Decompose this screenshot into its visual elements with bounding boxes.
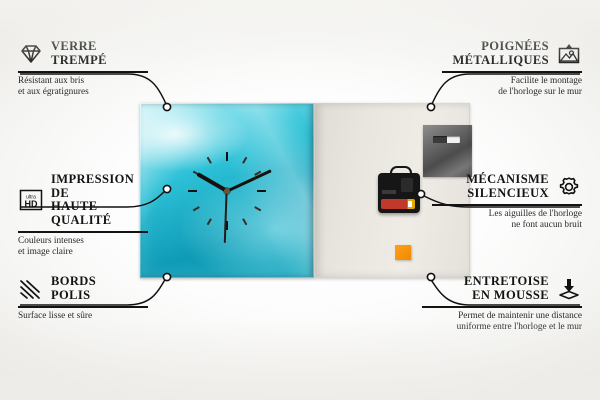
feature-divider [18,231,148,233]
feature-divider [442,71,582,73]
feature-title-line1: IMPRESSION DE [51,173,148,200]
feature-bords-polis: BORDS POLIS Surface lisse et sûre [18,275,148,322]
feature-title-line2: TREMPÉ [51,54,107,68]
feature-title-row: MÉCANISME SILENCIEUX [432,173,582,200]
feature-title-line1: VERRE [51,40,107,54]
picture-frame-icon [556,42,582,66]
feature-desc-line1: Résistant aux bris [18,76,148,87]
clock-front-panel [140,103,314,278]
feature-divider [18,71,148,73]
feature-entretoise-en-mousse: ENTRETOISE EN MOUSSE Permet de maintenir… [422,275,582,333]
product-image [140,103,470,278]
ultra-hd-icon: ultra HD [18,188,44,212]
feature-poignees-metalliques: POIGNÉES MÉTALLIQUES Facilite le montage… [442,40,582,98]
feature-title-line2: MÉTALLIQUES [452,54,549,68]
feature-title-row: VERRE TREMPÉ [18,40,148,67]
feature-title-line2: POLIS [51,289,96,303]
diagonal-lines-icon [18,277,44,301]
feature-desc-line2: uniforme entre l'horloge et le mur [422,322,582,333]
feature-title-line2: EN MOUSSE [464,289,549,303]
feature-title-row: ENTRETOISE EN MOUSSE [422,275,582,302]
feature-title-row: ultra HD IMPRESSION DE HAUTE QUALITÉ [18,173,148,227]
feature-impression-haute-qualite: ultra HD IMPRESSION DE HAUTE QUALITÉ Cou… [18,173,148,258]
diamond-icon [18,42,44,66]
feature-divider [432,204,582,206]
feature-desc-line2: ne font aucun bruit [432,220,582,231]
gear-icon [556,175,582,199]
feature-divider [422,306,582,308]
feature-desc-line1: Facilite le montage [442,76,582,87]
feature-title-line2: HAUTE QUALITÉ [51,200,148,227]
feature-title-line1: BORDS [51,275,96,289]
feature-divider [18,306,148,308]
feature-title-row: BORDS POLIS [18,275,148,302]
feature-title-line2: SILENCIEUX [466,187,549,201]
feature-title-line1: POIGNÉES [452,40,549,54]
feature-desc-line1: Permet de maintenir une distance [422,311,582,322]
feature-desc-line2: de l'horloge sur le mur [442,87,582,98]
svg-text:HD: HD [25,199,38,209]
tempered-glass-edge [140,103,314,278]
down-arrow-layers-icon [556,277,582,301]
feature-desc-line1: Surface lisse et sûre [18,311,148,322]
feature-verre-trempe: VERRE TREMPÉ Résistant aux bris et aux é… [18,40,148,98]
infographic-canvas: VERRE TREMPÉ Résistant aux bris et aux é… [0,0,600,400]
feature-desc-line2: et image claire [18,247,148,258]
feature-title-line1: MÉCANISME [466,173,549,187]
feature-desc-line2: et aux égratignures [18,87,148,98]
feature-title-line1: ENTRETOISE [464,275,549,289]
feature-desc-line1: Couleurs intenses [18,236,148,247]
feature-mecanisme-silencieux: MÉCANISME SILENCIEUX Les aiguilles de l'… [432,173,582,231]
feature-title-row: POIGNÉES MÉTALLIQUES [442,40,582,67]
feature-desc-line1: Les aiguilles de l'horloge [432,209,582,220]
